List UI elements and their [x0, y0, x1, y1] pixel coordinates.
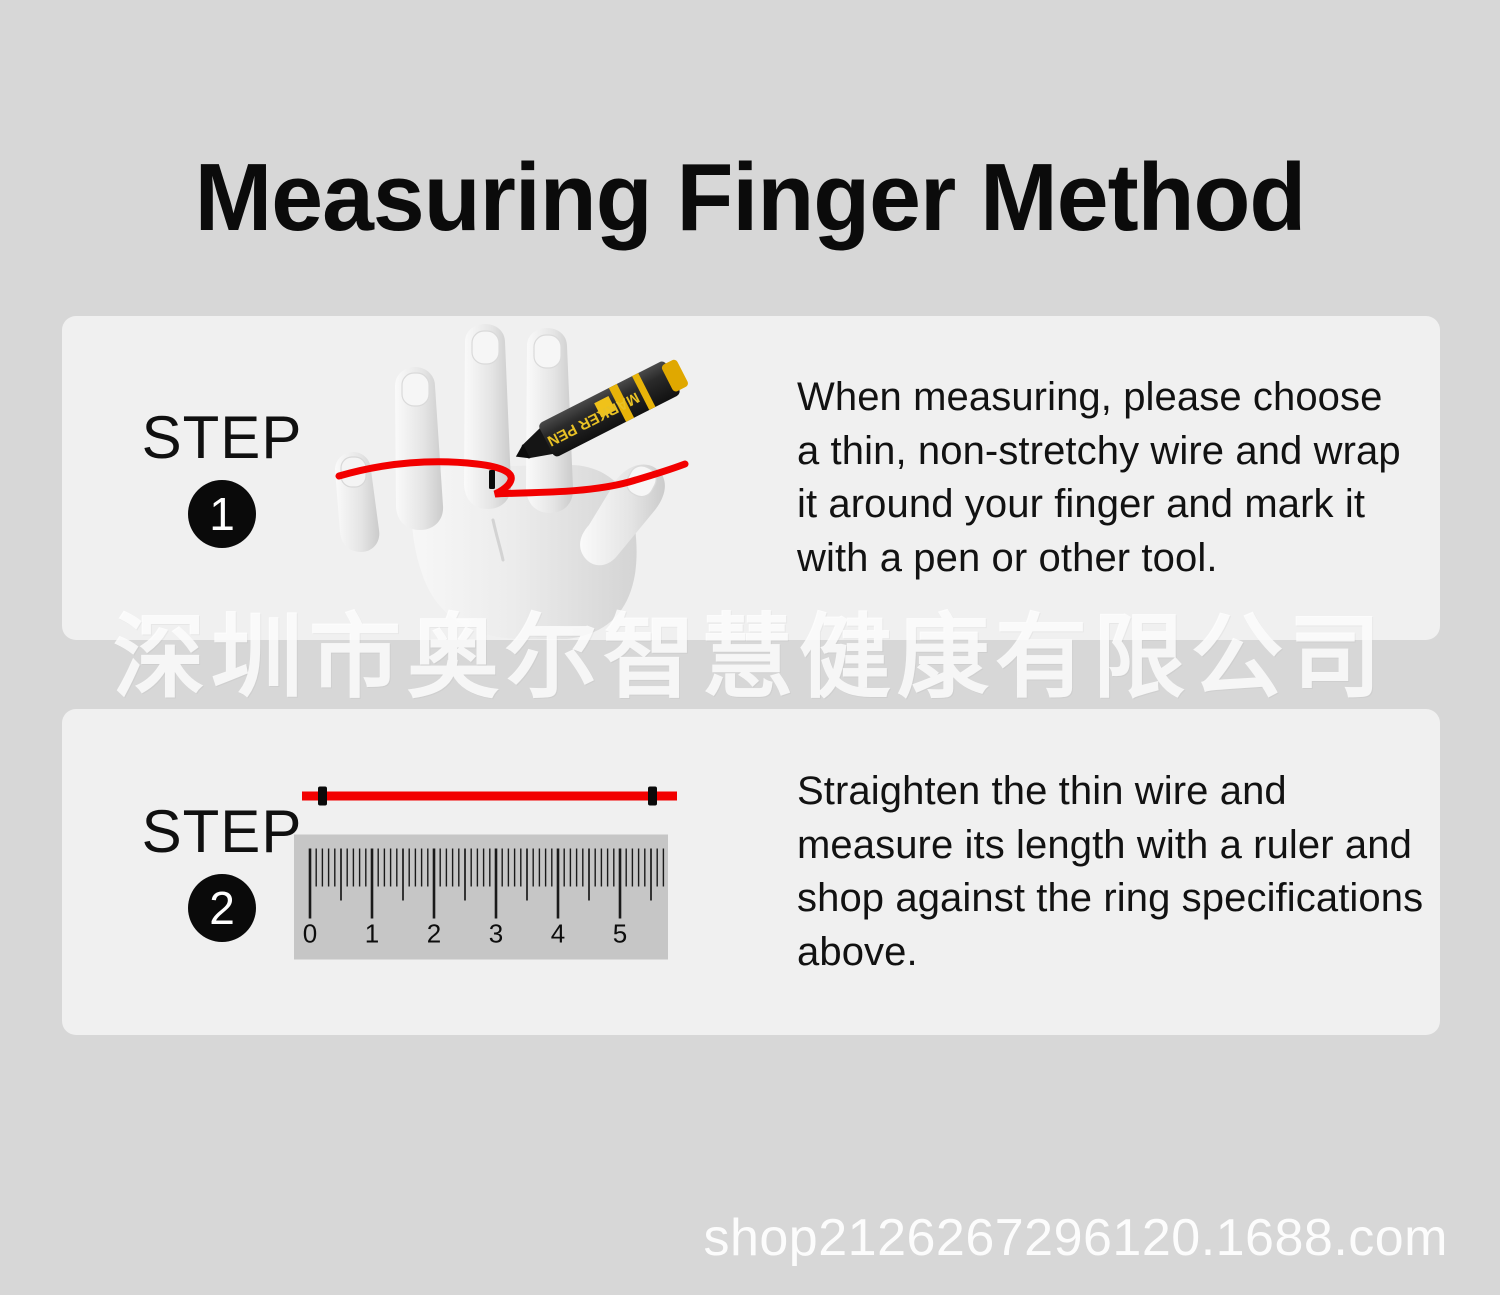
step-1-description: When measuring, please choose a thin, no… [797, 371, 1497, 585]
ruler-tick-label: 1 [365, 919, 379, 949]
step-1-line-2: a thin, non-stretchy wire and wrap [797, 424, 1497, 478]
ruler-tick-label: 5 [613, 919, 627, 949]
ruler-tick-label: 0 [303, 919, 317, 949]
step-1-line-3: it around your finger and mark it [797, 478, 1497, 532]
step-word-1: STEP [117, 408, 327, 468]
wire-ruler-illustration: 012345 [294, 780, 694, 965]
shop-url-watermark: shop2126267296120.1688.com [703, 1212, 1448, 1264]
step-label-1: STEP 1 [117, 408, 327, 548]
infographic-page: Measuring Finger Method STEP 1 [0, 0, 1500, 1295]
ruler-tick-label: 2 [427, 919, 441, 949]
ruler-tick-label: 3 [489, 919, 503, 949]
step-1-line-1: When measuring, please choose [797, 371, 1497, 425]
step-2-line-3: shop against the ring specifications [797, 872, 1497, 926]
step-2-line-4: above. [797, 926, 1497, 980]
wire-line [302, 792, 677, 801]
ruler-tick-label: 4 [551, 919, 565, 949]
step-2-line-1: Straighten the thin wire and [797, 765, 1497, 819]
step-2-line-2: measure its length with a ruler and [797, 818, 1497, 872]
step-2-description: Straighten the thin wire and measure its… [797, 765, 1497, 979]
ruler: 012345 [294, 835, 668, 960]
hand-marker-illustration: MARKER PEN [317, 324, 737, 639]
straightened-wire [294, 780, 694, 810]
wire-mark-start [318, 787, 327, 806]
wire-mark-end [648, 787, 657, 806]
step-number-badge-1: 1 [188, 480, 256, 548]
step-card-1: STEP 1 [62, 316, 1440, 640]
page-title: Measuring Finger Method [23, 148, 1478, 249]
step-number-badge-2: 2 [188, 874, 256, 942]
step-card-2: STEP 2 012345 Straighten the thin wire a… [62, 709, 1440, 1035]
step-1-line-4: with a pen or other tool. [797, 532, 1497, 586]
